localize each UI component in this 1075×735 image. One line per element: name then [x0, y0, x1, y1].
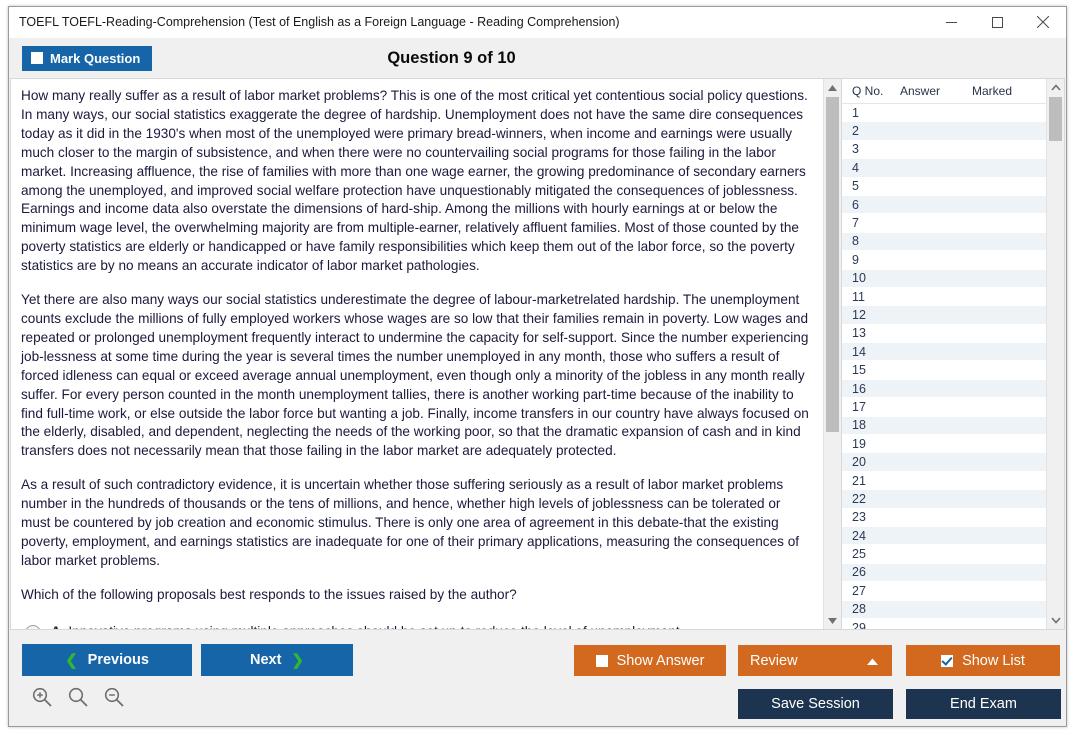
mark-question-label: Mark Question — [50, 51, 140, 66]
row-question-number: 19 — [842, 437, 900, 451]
row-question-number: 9 — [842, 253, 900, 267]
row-question-number: 26 — [842, 565, 900, 579]
question-list-panel: Q No. Answer Marked 12345678910111213141… — [841, 78, 1065, 630]
passage-pane: How many really suffer as a result of la… — [10, 78, 841, 630]
top-toolbar: Mark Question Question 9 of 10 — [9, 38, 1066, 78]
maximize-icon[interactable] — [974, 7, 1020, 37]
row-question-number: 28 — [842, 602, 900, 616]
mark-question-button[interactable]: Mark Question — [22, 46, 152, 71]
question-list-row[interactable]: 27 — [842, 582, 1047, 600]
passage-scroll-content: How many really suffer as a result of la… — [11, 79, 824, 629]
review-label: Review — [750, 653, 798, 669]
question-list-row[interactable]: 20 — [842, 453, 1047, 471]
question-list-row[interactable]: 24 — [842, 527, 1047, 545]
content-area: How many really suffer as a result of la… — [9, 78, 1066, 630]
row-question-number: 1 — [842, 106, 900, 120]
show-list-checkbox-icon[interactable] — [941, 655, 953, 667]
question-list-row[interactable]: 18 — [842, 417, 1047, 435]
previous-label: Previous — [88, 652, 149, 668]
question-counter: Question 9 of 10 — [0, 49, 1066, 68]
row-question-number: 22 — [842, 492, 900, 506]
question-list-row[interactable]: 3 — [842, 141, 1047, 159]
minimize-icon[interactable] — [928, 7, 974, 37]
question-list-row[interactable]: 26 — [842, 564, 1047, 582]
option-letter: A. — [51, 624, 65, 629]
show-answer-label: Show Answer — [617, 653, 705, 669]
zoom-in-icon[interactable] — [31, 686, 53, 713]
row-question-number: 20 — [842, 455, 900, 469]
column-header-answer: Answer — [900, 84, 972, 98]
chevron-left-icon: ❮ — [65, 651, 78, 669]
question-list-row[interactable]: 15 — [842, 361, 1047, 379]
question-prompt: Which of the following proposals best re… — [21, 586, 812, 605]
passage-scroll-thumb[interactable] — [826, 97, 839, 432]
row-question-number: 3 — [842, 142, 900, 156]
scroll-down-icon[interactable] — [824, 612, 841, 629]
row-question-number: 11 — [842, 290, 900, 304]
window-controls — [928, 7, 1066, 37]
zoom-out-icon[interactable] — [103, 686, 125, 713]
title-bar: TOEFL TOEFL-Reading-Comprehension (Test … — [9, 7, 1066, 38]
row-question-number: 13 — [842, 326, 900, 340]
question-list-row[interactable]: 6 — [842, 196, 1047, 214]
question-list-row[interactable]: 1 — [842, 104, 1047, 122]
mark-question-checkbox-icon[interactable] — [31, 52, 43, 64]
question-list-row[interactable]: 22 — [842, 490, 1047, 508]
window-title: TOEFL TOEFL-Reading-Comprehension (Test … — [9, 15, 620, 29]
question-list-row[interactable]: 7 — [842, 214, 1047, 232]
question-list-rows[interactable]: 1234567891011121314151617181920212223242… — [842, 104, 1047, 629]
passage-paragraph: As a result of such contradictory eviden… — [21, 476, 812, 571]
show-list-button[interactable]: Show List — [906, 645, 1060, 676]
question-list-row[interactable]: 28 — [842, 601, 1047, 619]
row-question-number: 7 — [842, 216, 900, 230]
scroll-up-icon[interactable] — [1047, 79, 1064, 96]
question-list-row[interactable]: 11 — [842, 288, 1047, 306]
scroll-up-icon[interactable] — [824, 79, 841, 96]
zoom-reset-icon[interactable] — [67, 686, 89, 713]
passage-paragraph: Yet there are also many ways our social … — [21, 291, 812, 461]
row-question-number: 25 — [842, 547, 900, 561]
chevron-up-icon — [867, 653, 878, 669]
passage-scrollbar[interactable] — [823, 79, 841, 629]
show-answer-checkbox-icon[interactable] — [596, 655, 608, 667]
question-list-scroll-thumb[interactable] — [1049, 97, 1062, 141]
question-list-row[interactable]: 12 — [842, 306, 1047, 324]
save-session-label: Save Session — [771, 696, 860, 712]
row-question-number: 23 — [842, 510, 900, 524]
option-text: Innovative programs using multiple appro… — [68, 624, 683, 629]
end-exam-button[interactable]: End Exam — [906, 689, 1061, 719]
row-question-number: 2 — [842, 124, 900, 138]
row-question-number: 10 — [842, 271, 900, 285]
review-dropdown-button[interactable]: Review — [738, 645, 892, 676]
question-list-row[interactable]: 16 — [842, 380, 1047, 398]
question-list-row[interactable]: 2 — [842, 122, 1047, 140]
question-list-row[interactable]: 17 — [842, 398, 1047, 416]
close-icon[interactable] — [1020, 7, 1066, 37]
row-question-number: 27 — [842, 584, 900, 598]
next-button[interactable]: Next ❯ — [201, 644, 353, 676]
show-list-label: Show List — [962, 653, 1025, 669]
row-question-number: 24 — [842, 529, 900, 543]
row-question-number: 21 — [842, 474, 900, 488]
question-list-row[interactable]: 21 — [842, 472, 1047, 490]
question-list-row[interactable]: 14 — [842, 343, 1047, 361]
row-question-number: 12 — [842, 308, 900, 322]
row-question-number: 14 — [842, 345, 900, 359]
row-question-number: 5 — [842, 179, 900, 193]
question-list-row[interactable]: 8 — [842, 233, 1047, 251]
scroll-down-icon[interactable] — [1047, 612, 1064, 629]
show-answer-button[interactable]: Show Answer — [574, 645, 726, 676]
question-list-row[interactable]: 23 — [842, 509, 1047, 527]
question-list-row[interactable]: 19 — [842, 435, 1047, 453]
row-question-number: 29 — [842, 621, 900, 629]
row-question-number: 16 — [842, 382, 900, 396]
radio-icon[interactable] — [25, 625, 41, 629]
answer-option-a[interactable]: A. Innovative programs using multiple ap… — [25, 623, 812, 629]
next-label: Next — [250, 652, 281, 668]
row-question-number: 8 — [842, 234, 900, 248]
passage-paragraph: How many really suffer as a result of la… — [21, 87, 812, 276]
previous-button[interactable]: ❮ Previous — [22, 644, 192, 676]
question-list-header: Q No. Answer Marked — [842, 79, 1064, 104]
question-list-scrollbar[interactable] — [1046, 79, 1064, 629]
question-list-row[interactable]: 9 — [842, 251, 1047, 269]
row-question-number: 17 — [842, 400, 900, 414]
row-question-number: 15 — [842, 363, 900, 377]
column-header-marked: Marked — [972, 84, 1047, 98]
footer-toolbar: ❮ Previous Next ❯ Show Answer Review Sho… — [9, 630, 1066, 726]
end-exam-label: End Exam — [950, 696, 1017, 712]
chevron-right-icon: ❯ — [291, 651, 304, 669]
question-list-row[interactable]: 4 — [842, 159, 1047, 177]
question-list-row[interactable]: 29 — [842, 619, 1047, 629]
question-list-row[interactable]: 5 — [842, 178, 1047, 196]
column-header-qno: Q No. — [842, 84, 900, 98]
exam-window: TOEFL TOEFL-Reading-Comprehension (Test … — [8, 6, 1067, 727]
row-question-number: 4 — [842, 161, 900, 175]
zoom-controls — [31, 686, 125, 713]
row-question-number: 18 — [842, 418, 900, 432]
save-session-button[interactable]: Save Session — [738, 689, 893, 719]
question-list-row[interactable]: 25 — [842, 545, 1047, 563]
question-list-row[interactable]: 13 — [842, 325, 1047, 343]
question-list-row[interactable]: 10 — [842, 270, 1047, 288]
row-question-number: 6 — [842, 198, 900, 212]
